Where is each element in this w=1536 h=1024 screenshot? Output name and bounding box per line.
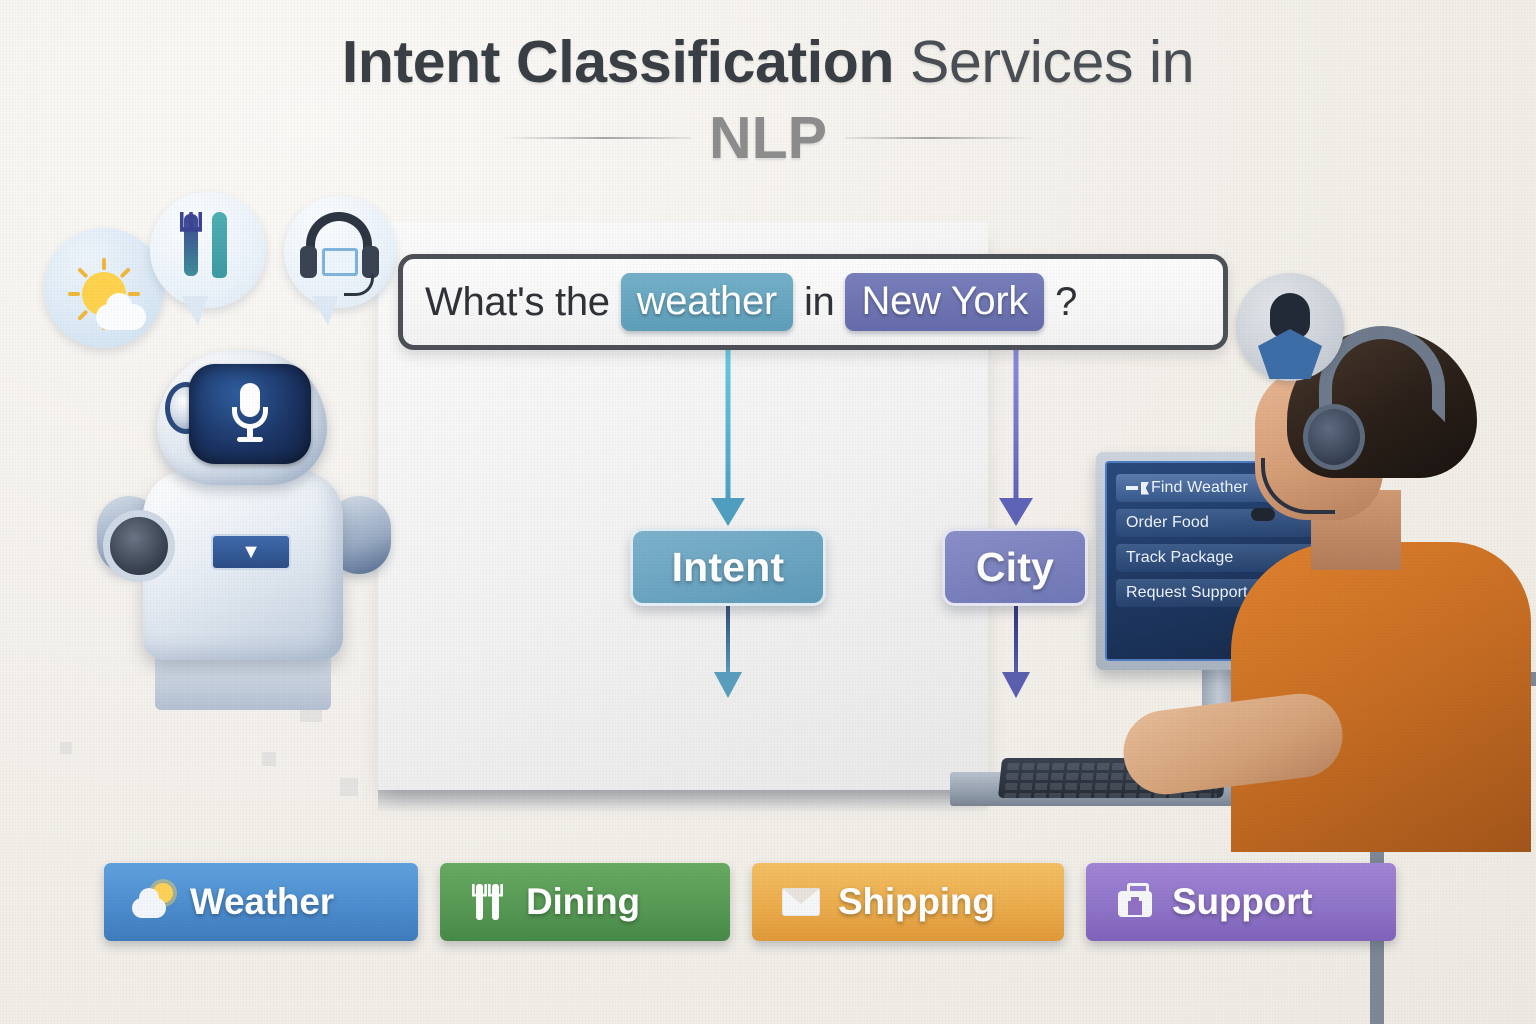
bubble-tail (312, 296, 338, 326)
fork-icon (184, 214, 198, 276)
headset-boom-icon (344, 274, 374, 296)
avatar-body (1258, 329, 1322, 379)
knife-icon (212, 212, 227, 278)
query-chip-intent[interactable]: weather (621, 273, 793, 331)
support-agent-person (1215, 330, 1536, 850)
arrow-head (999, 498, 1033, 526)
decor-pixel (60, 742, 72, 754)
cursor-icon (1126, 486, 1138, 490)
arrow-head (1002, 672, 1030, 698)
arrow-stem (1014, 350, 1019, 500)
marker-icon (1141, 482, 1149, 495)
bubble-tail (182, 296, 208, 326)
title-strong: Intent Classification (342, 29, 894, 95)
screen-item-label: Order Food (1126, 514, 1209, 532)
query-suffix: ? (1055, 280, 1077, 325)
robot-face-screen (189, 364, 311, 464)
arrow-stem (1014, 606, 1018, 676)
robot-body: ▼ (143, 470, 343, 660)
title-nlp: NLP (709, 104, 827, 172)
fork-knife-icon (466, 879, 512, 925)
headset-mic-icon (1251, 508, 1275, 521)
decor-pixel (262, 752, 276, 766)
decor-pixel (340, 778, 358, 796)
category-label: Support (1172, 881, 1312, 923)
robot-shoulder-disc (103, 510, 175, 582)
title-line-one: Intent Classification Services in (0, 26, 1536, 98)
category-button-weather[interactable]: Weather (104, 863, 418, 941)
arrow-head (711, 498, 745, 526)
query-input-bar[interactable]: What's the weather in New York ? (398, 254, 1228, 350)
arrow-intent-output (702, 606, 754, 706)
category-button-support[interactable]: Support (1086, 863, 1396, 941)
query-middle: in (804, 280, 835, 325)
envelope-box-icon (778, 879, 824, 925)
arrow-stem (726, 350, 731, 500)
robot-head (157, 350, 327, 485)
arrow-city-output (990, 606, 1042, 706)
category-label: Dining (526, 881, 640, 923)
category-label: Weather (190, 881, 334, 923)
entity-box-intent[interactable]: Intent (630, 528, 826, 606)
entity-box-city[interactable]: City (942, 528, 1088, 606)
headset-earcup-left-icon (300, 246, 317, 278)
infographic-canvas: Intent Classification Services in NLP (0, 0, 1536, 1024)
category-label: Shipping (838, 881, 995, 923)
category-button-dining[interactable]: Dining (440, 863, 730, 941)
query-prefix: What's the (425, 280, 610, 325)
category-button-shipping[interactable]: Shipping (752, 863, 1064, 941)
query-chip-city[interactable]: New York (845, 273, 1044, 331)
arrow-stem (726, 606, 730, 676)
arrow-head (714, 672, 742, 698)
headset-screen-icon (322, 248, 358, 276)
robot-assistant: ▼ (95, 350, 395, 710)
speech-bubble-support (284, 196, 396, 308)
medical-kit-icon (1112, 879, 1158, 925)
sun-cloud-icon (130, 879, 176, 925)
category-button-row: Weather Dining Shipping Support (104, 863, 1396, 941)
arrow-city-to-city-box (988, 350, 1044, 528)
arrow-weather-to-intent (700, 350, 756, 528)
title-rule-left (501, 137, 691, 139)
user-avatar-icon (1236, 273, 1344, 381)
chevron-down-icon: ▼ (211, 534, 291, 570)
microphone-icon (228, 383, 272, 445)
speech-bubble-weather (44, 228, 164, 348)
cloud-icon (96, 304, 146, 330)
title-rule-right (845, 137, 1035, 139)
page-title: Intent Classification Services in NLP (0, 26, 1536, 172)
query-text: What's the weather in New York ? (425, 273, 1077, 331)
title-line-two: NLP (0, 104, 1536, 172)
title-light: Services in (894, 29, 1194, 95)
speech-bubble-dining (150, 192, 266, 308)
